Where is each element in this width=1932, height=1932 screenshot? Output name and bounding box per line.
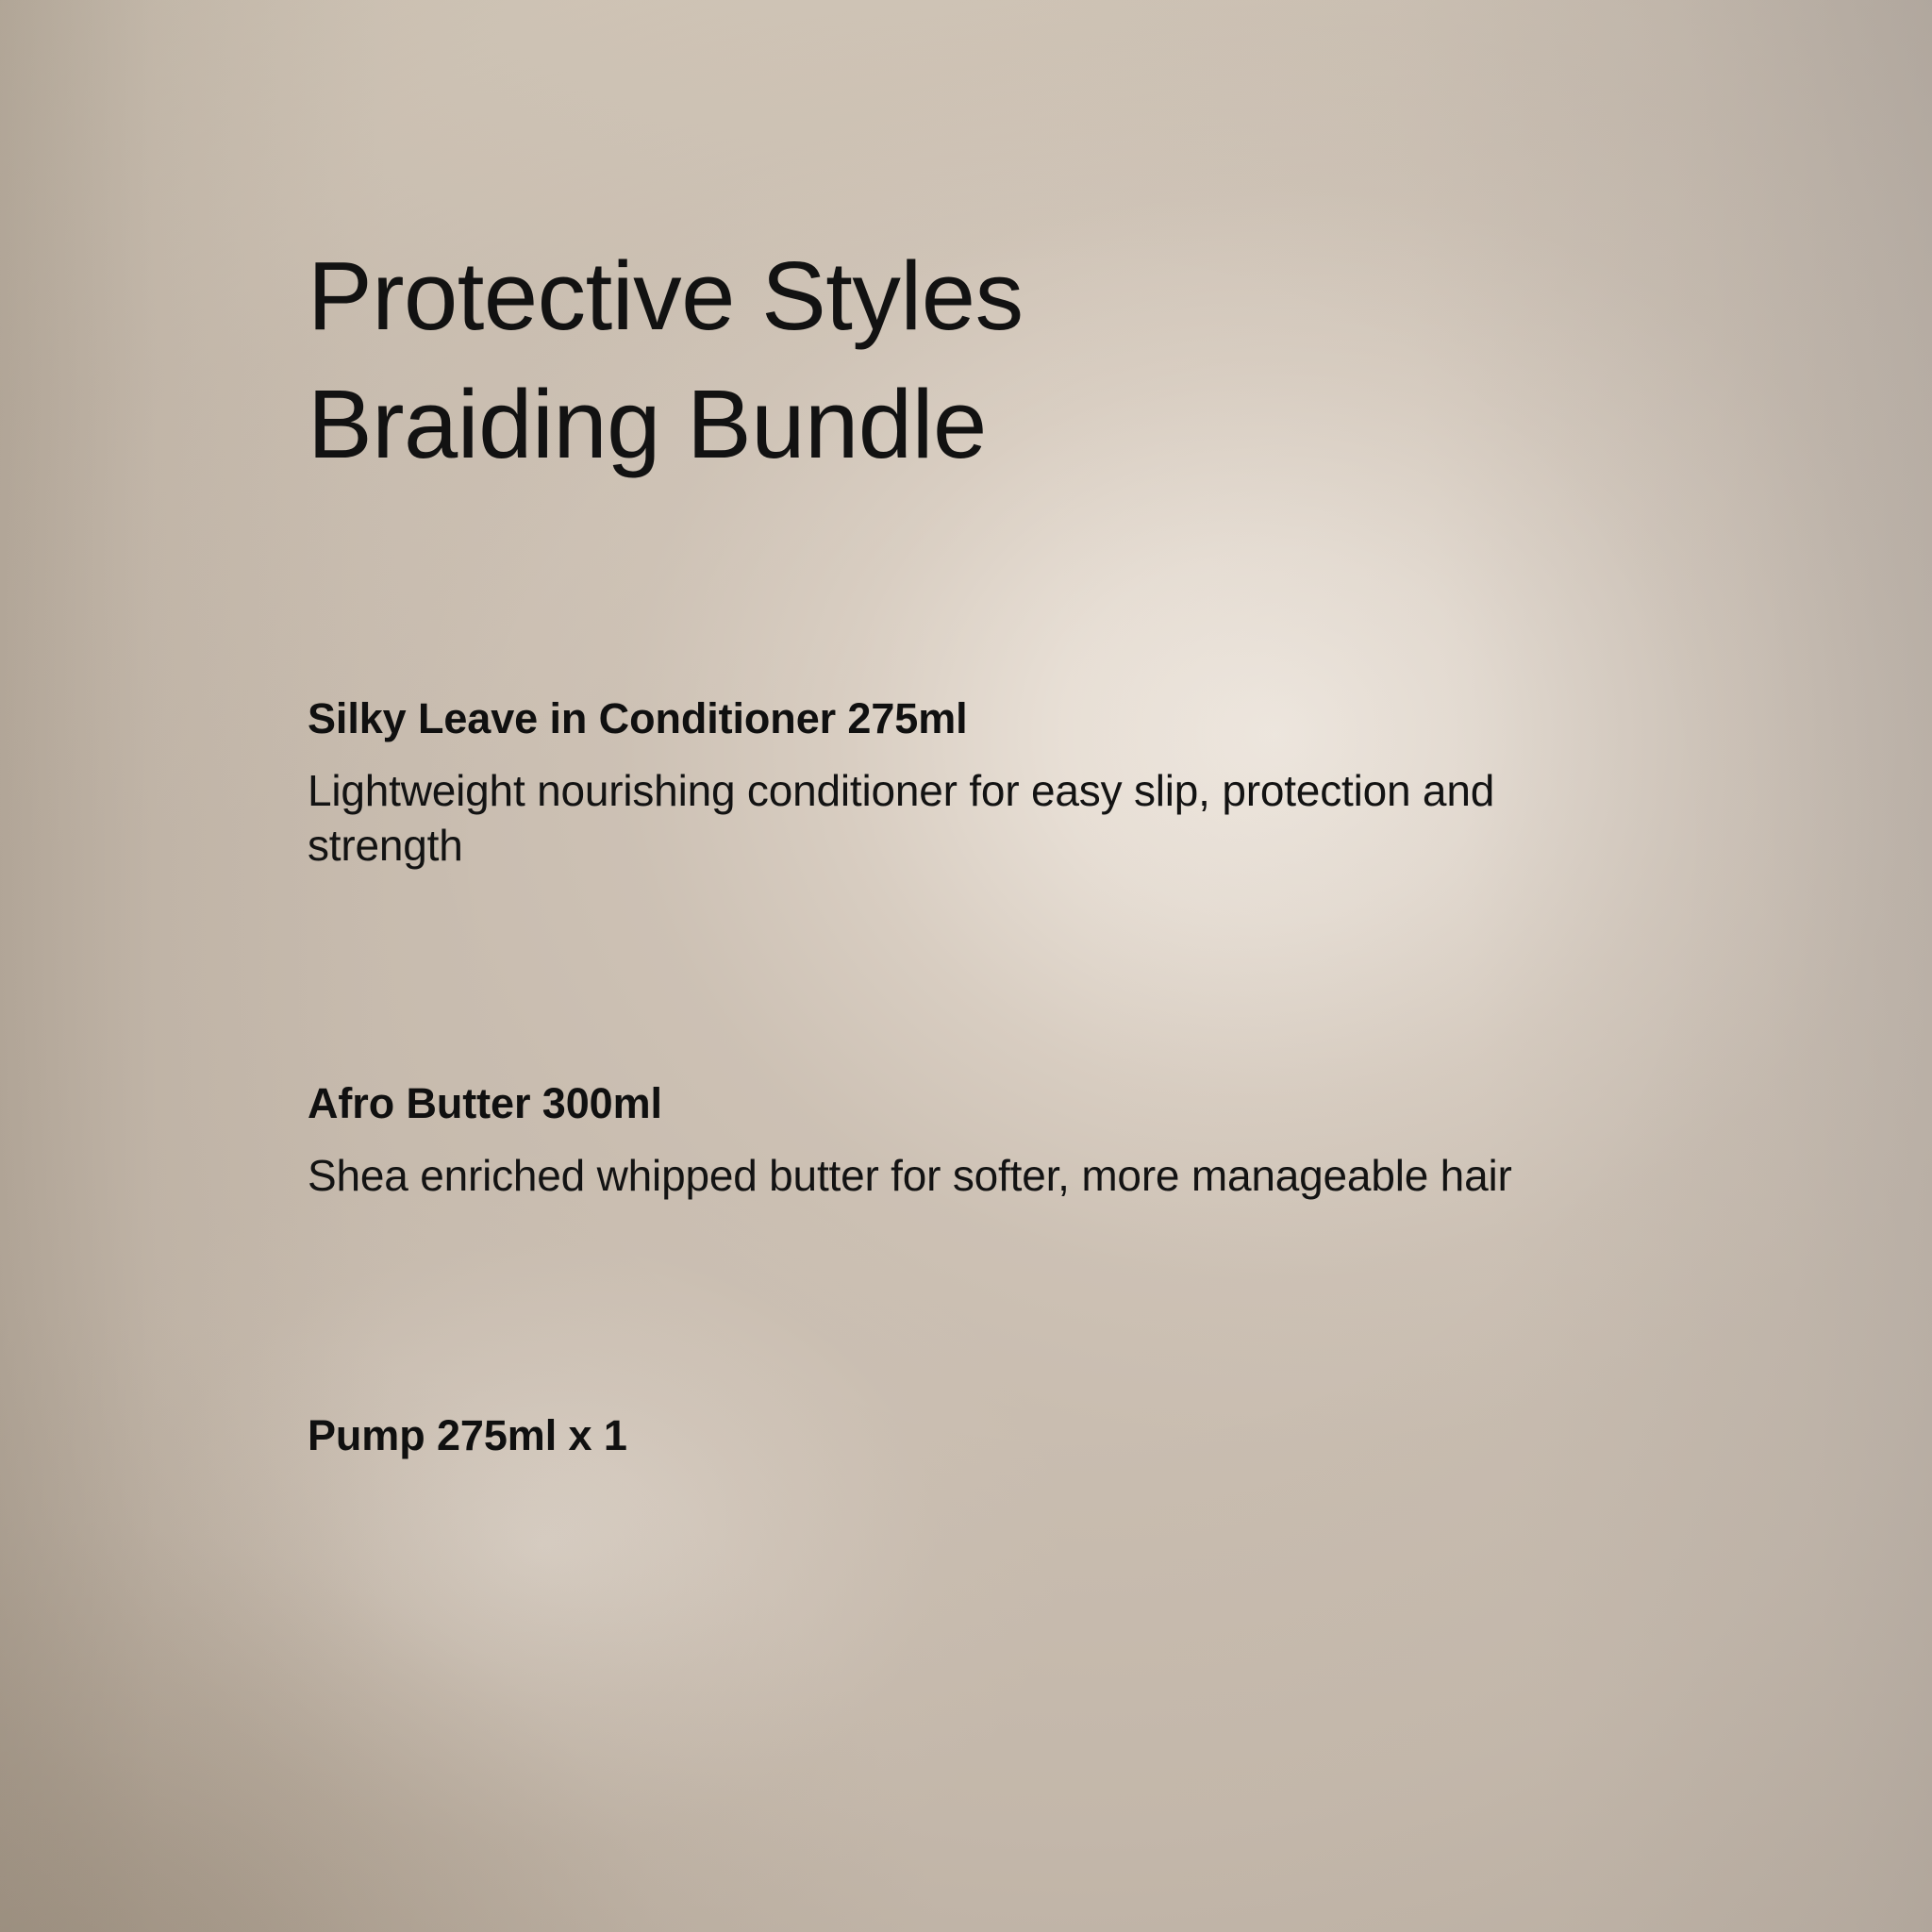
product-bundle-graphic: Protective Styles Braiding Bundle Silky … xyxy=(0,0,1932,1932)
page-title: Protective Styles Braiding Bundle xyxy=(308,232,1024,489)
bundle-item-2-description: Shea enriched whipped butter for softer,… xyxy=(308,1128,1534,1204)
bundle-item-1-description: Lightweight nourishing conditioner for e… xyxy=(308,743,1534,874)
bundle-item-2-heading: Afro Butter 300ml xyxy=(308,1078,1562,1128)
bundle-item-3-heading: Pump 275ml x 1 xyxy=(308,1410,1562,1460)
bundle-item-2: Afro Butter 300ml Shea enriched whipped … xyxy=(308,1078,1562,1204)
bundle-item-1-heading: Silky Leave in Conditioner 275ml xyxy=(308,693,1562,743)
content-column: Protective Styles Braiding Bundle Silky … xyxy=(308,0,1647,1932)
bundle-item-3: Pump 275ml x 1 xyxy=(308,1410,1562,1460)
bundle-item-1: Silky Leave in Conditioner 275ml Lightwe… xyxy=(308,693,1562,874)
